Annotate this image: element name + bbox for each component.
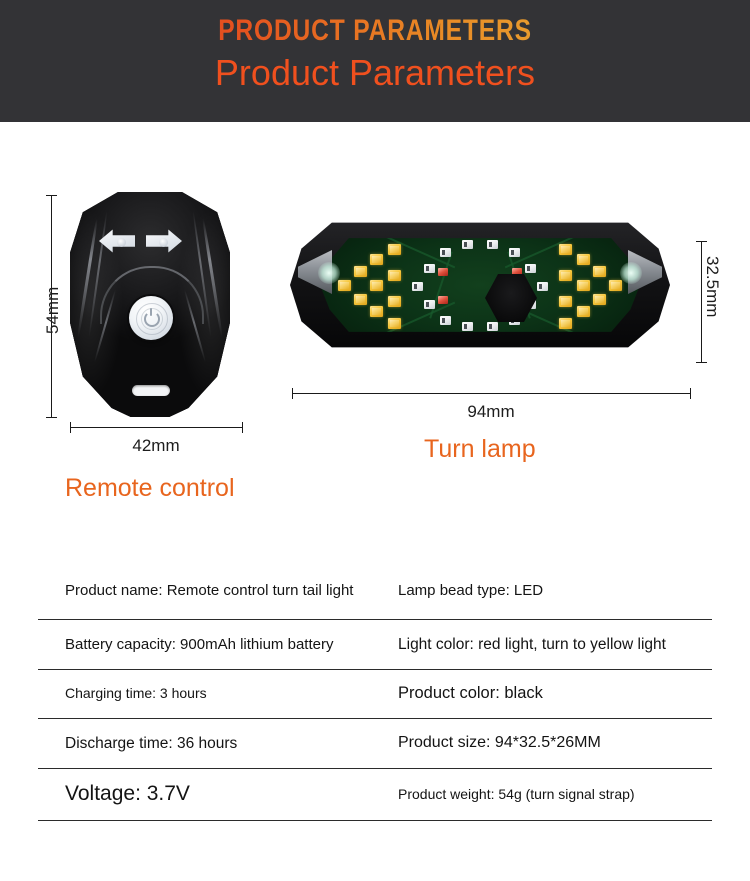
left-arrow-center-dot [117,238,126,247]
remote-control-caption: Remote control [65,474,235,503]
remote-height-tick-bottom [46,417,57,418]
spec-cell-left: Product name: Remote control turn tail l… [38,581,398,600]
red-led [438,296,448,304]
amber-led [559,244,572,255]
white-led [525,264,536,273]
remote-width-tick-right [242,422,243,433]
white-led [462,322,473,331]
amber-led [593,294,606,305]
amber-led [370,280,383,291]
specifications-table: Product name: Remote control turn tail l… [38,562,712,821]
turn-lamp-device [290,220,670,350]
lamp-height-tick-bottom [696,362,707,363]
spec-row: Battery capacity: 900mAh lithium battery… [38,620,712,670]
spec-cell-left: Battery capacity: 900mAh lithium battery [38,635,398,654]
amber-led [370,254,383,265]
amber-led [559,296,572,307]
lamp-height-tick-top [696,241,707,242]
right-tip-glow [620,262,642,284]
power-icon [144,308,158,322]
amber-led [577,280,590,291]
spec-cell-right: Product weight: 54g (turn signal strap) [398,786,712,804]
amber-led [388,270,401,281]
right-arrow-center-dot [159,238,168,247]
spec-cell-left: Voltage: 3.7V [38,781,398,808]
white-led [462,240,473,249]
amber-led [609,280,622,291]
amber-led [577,254,590,265]
amber-led [354,266,367,277]
amber-led [388,296,401,307]
amber-led [338,280,351,291]
lamp-width-dimension-line [292,393,690,394]
spec-cell-right: Product color: black [398,683,712,704]
white-led [487,322,498,331]
amber-led [388,318,401,329]
banner-title-main: Product Parameters [0,52,750,94]
left-tip-glow [318,262,340,284]
product-showcase: 54mm [0,122,750,552]
spec-row: Voltage: 3.7VProduct weight: 54g (turn s… [38,769,712,821]
power-button[interactable] [129,296,173,340]
white-led [440,248,451,257]
white-led [537,282,548,291]
red-led [438,268,448,276]
remote-width-tick-left [70,422,71,433]
spec-row: Discharge time: 36 hoursProduct size: 94… [38,719,712,769]
amber-led [370,306,383,317]
amber-led [354,294,367,305]
turn-lamp-caption: Turn lamp [424,435,536,464]
white-led [509,248,520,257]
spec-cell-right: Light color: red light, turn to yellow l… [398,635,712,655]
header-banner: PRODUCT PARAMETERS Product Parameters [0,0,750,122]
remote-width-dimension-line [70,427,242,428]
amber-led [559,318,572,329]
white-led [487,240,498,249]
amber-led [559,270,572,281]
lamp-pcb [320,234,640,336]
spec-row: Product name: Remote control turn tail l… [38,562,712,620]
white-led [440,316,451,325]
spec-cell-left: Discharge time: 36 hours [38,734,398,754]
remote-control-device [60,192,240,417]
spec-row: Charging time: 3 hoursProduct color: bla… [38,670,712,719]
lamp-width-label: 94mm [292,402,690,422]
spec-cell-left: Charging time: 3 hours [38,685,398,703]
lamp-width-tick-right [690,388,691,399]
lamp-width-tick-left [292,388,293,399]
white-led [424,264,435,273]
white-led [424,300,435,309]
lamp-height-label: 32.5mm [702,256,722,317]
remote-width-label: 42mm [0,436,312,456]
lanyard-slot [132,385,170,396]
amber-led [593,266,606,277]
banner-title-uppercase: PRODUCT PARAMETERS [68,14,683,48]
amber-led [577,306,590,317]
spec-cell-right: Lamp bead type: LED [398,581,712,600]
white-led [412,282,423,291]
remote-height-tick-top [46,195,57,196]
spec-cell-right: Product size: 94*32.5*26MM [398,733,712,753]
remote-body [70,192,230,417]
amber-led [388,244,401,255]
